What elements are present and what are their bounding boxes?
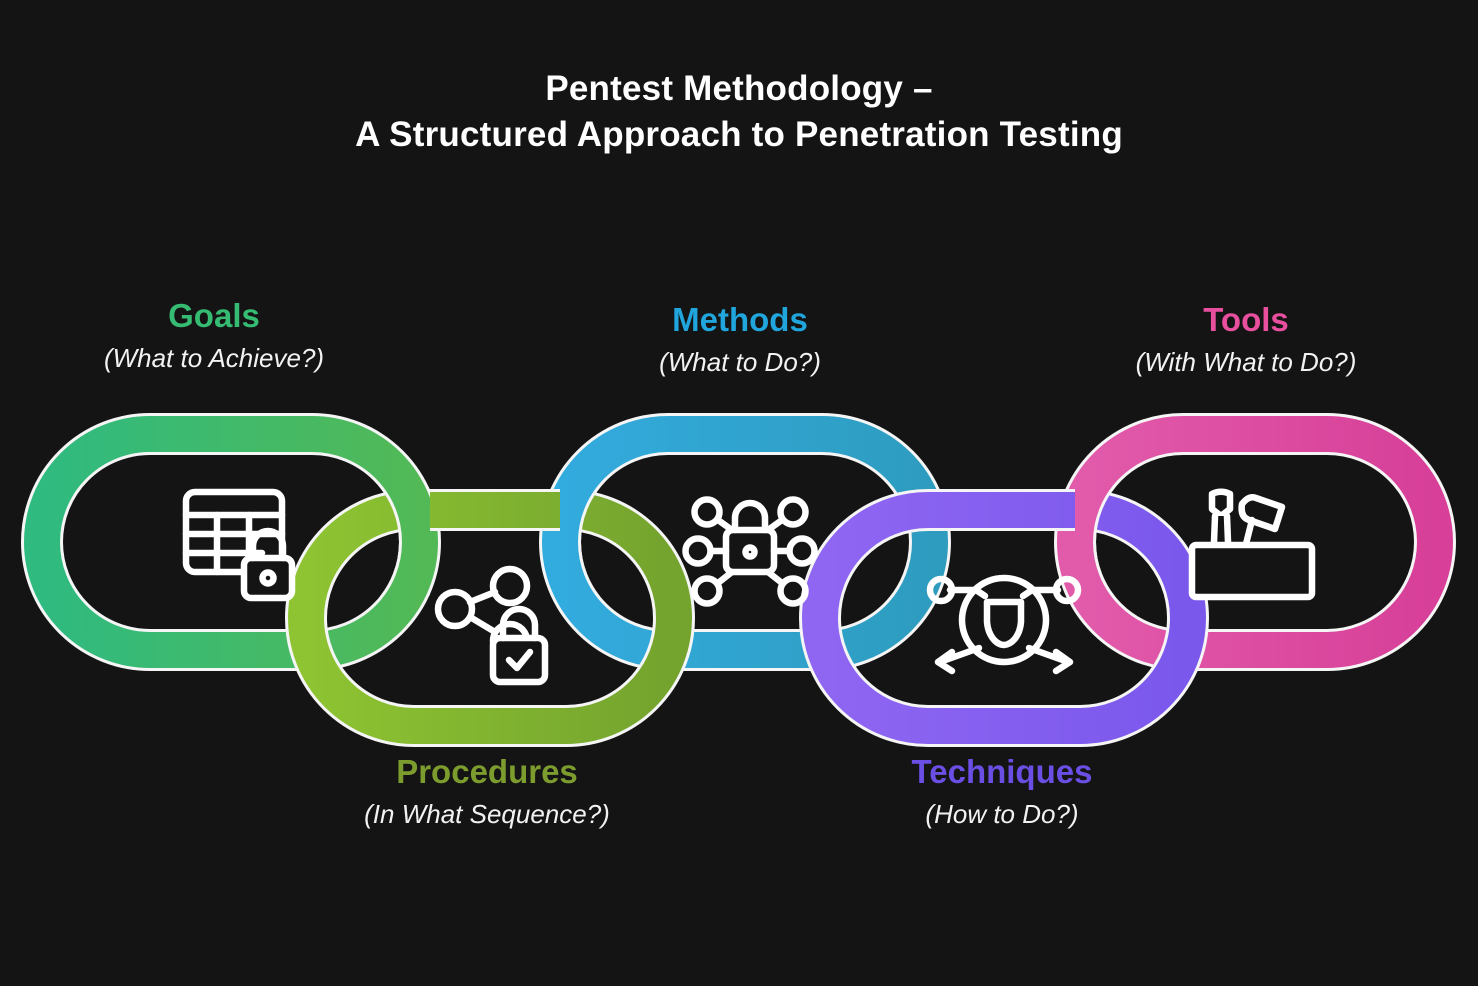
link-label-procedures-title: Procedures	[317, 754, 657, 791]
shield-circle-arrows-icon	[930, 578, 1078, 671]
link-label-goals-sub: (What to Achieve?)	[44, 344, 384, 373]
link-label-procedures-sub: (In What Sequence?)	[317, 800, 657, 829]
link-label-goals: Goals (What to Achieve?)	[44, 298, 384, 373]
link-label-techniques-title: Techniques	[830, 754, 1174, 791]
link-label-tools-title: Tools	[1076, 302, 1416, 339]
link-label-techniques-sub: (How to Do?)	[830, 800, 1174, 829]
toolbox-wrench-hammer-icon	[1192, 492, 1312, 597]
table-lock-icon	[186, 492, 292, 598]
hub-lock-nodes-icon	[686, 500, 815, 604]
link-label-methods-title: Methods	[568, 302, 912, 339]
chain-diagram	[0, 0, 1478, 986]
link-label-procedures: Procedures (In What Sequence?)	[317, 754, 657, 829]
diagram-canvas: Pentest Methodology – A Structured Appro…	[0, 0, 1478, 986]
link-label-methods-sub: (What to Do?)	[568, 348, 912, 377]
link-label-goals-title: Goals	[44, 298, 384, 335]
link-label-tools: Tools (With What to Do?)	[1076, 302, 1416, 377]
link-label-tools-sub: (With What to Do?)	[1076, 348, 1416, 377]
link-label-techniques: Techniques (How to Do?)	[830, 754, 1174, 829]
link-label-methods: Methods (What to Do?)	[568, 302, 912, 377]
share-nodes-lock-check-icon	[438, 569, 545, 682]
